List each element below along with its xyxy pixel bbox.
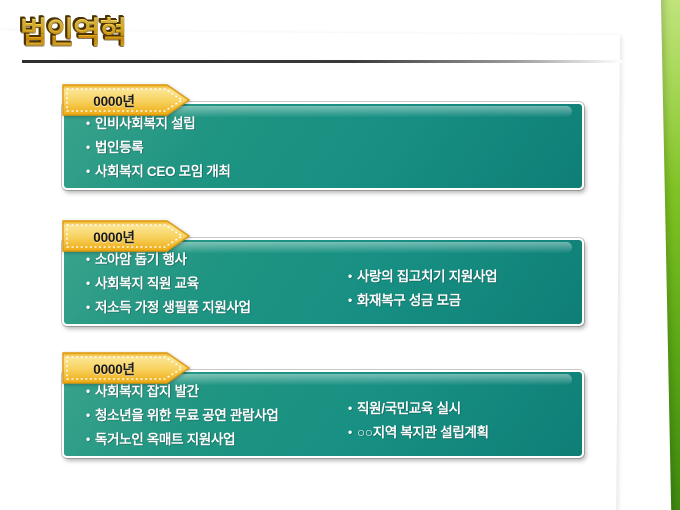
list-item: • 인비사회복지 설립	[86, 113, 348, 134]
list-item-label: 직원/국민교육 실시	[357, 398, 461, 419]
list-item: • 화재복구 성금 모금	[348, 290, 578, 311]
list-item-label: 인비사회복지 설립	[95, 113, 195, 134]
list-item-label: ○○지역 복지관 설립계획	[357, 422, 489, 443]
list-item: • 직원/국민교육 실시	[348, 398, 578, 419]
list-item: • 사랑의 집고치기 지원사업	[348, 266, 578, 287]
list-item-label: 사회복지 직원 교육	[95, 273, 199, 294]
list-item-label: 법인등록	[95, 137, 143, 158]
list-item-label: 화재복구 성금 모금	[357, 290, 461, 311]
list-item: • 소아암 돕기 행사	[86, 249, 348, 270]
section-right-column: • 사랑의 집고치기 지원사업 • 화재복구 성금 모금	[348, 249, 578, 324]
title-divider	[22, 60, 622, 63]
section-left-column: • 소아암 돕기 행사 • 사회복지 직원 교육 • 저소득 가정 생필품 지원…	[86, 249, 348, 324]
bullet-icon: •	[86, 249, 95, 270]
bullet-icon: •	[86, 297, 95, 318]
slide-content: 법인역혁 • 인비사회복지 설립 • 법인등록	[0, 0, 680, 510]
section-left-column: • 인비사회복지 설립 • 법인등록 • 사회복지 CEO 모임 개최	[86, 113, 348, 188]
section-left-column: • 사회복지 잡지 발간 • 청소년을 위한 무료 공연 관람사업 • 독거노인…	[86, 381, 348, 456]
list-item: • 청소년을 위한 무료 공연 관람사업	[86, 405, 348, 426]
list-item-label: 독거노인 옥매트 지원사업	[95, 429, 235, 450]
list-item: • 독거노인 옥매트 지원사업	[86, 429, 348, 450]
bullet-icon: •	[86, 113, 95, 134]
list-item: • 저소득 가정 생필품 지원사업	[86, 297, 348, 318]
bullet-icon: •	[86, 429, 95, 450]
list-item-label: 사랑의 집고치기 지원사업	[357, 266, 497, 287]
list-item: • 사회복지 잡지 발간	[86, 381, 348, 402]
year-tag: 0000년	[62, 220, 190, 252]
year-tag-shape	[62, 352, 190, 384]
section-right-column: • 직원/국민교육 실시 • ○○지역 복지관 설립계획	[348, 381, 578, 456]
section-columns: • 인비사회복지 설립 • 법인등록 • 사회복지 CEO 모임 개최	[64, 104, 582, 188]
section-columns: • 사회복지 잡지 발간 • 청소년을 위한 무료 공연 관람사업 • 독거노인…	[64, 372, 582, 456]
list-item-label: 사회복지 CEO 모임 개최	[95, 161, 231, 182]
bullet-icon: •	[86, 137, 95, 158]
page-title: 법인역혁	[20, 8, 126, 52]
list-item-label: 청소년을 위한 무료 공연 관람사업	[95, 405, 278, 426]
bullet-icon: •	[348, 266, 357, 287]
list-item-label: 저소득 가정 생필품 지원사업	[95, 297, 251, 318]
bullet-icon: •	[86, 273, 95, 294]
bullet-icon: •	[86, 381, 95, 402]
bullet-icon: •	[348, 398, 357, 419]
presentation-slide: 법인역혁 • 인비사회복지 설립 • 법인등록	[0, 0, 680, 510]
list-item: • 사회복지 직원 교육	[86, 273, 348, 294]
bullet-icon: •	[86, 161, 95, 182]
section-right-column	[348, 113, 578, 188]
list-item-label: 사회복지 잡지 발간	[95, 381, 199, 402]
list-item: • 법인등록	[86, 137, 348, 158]
bullet-icon: •	[348, 290, 357, 311]
year-tag: 0000년	[62, 352, 190, 384]
list-item: • 사회복지 CEO 모임 개최	[86, 161, 348, 182]
list-item: • ○○지역 복지관 설립계획	[348, 422, 578, 443]
bullet-icon: •	[348, 422, 357, 443]
section-columns: • 소아암 돕기 행사 • 사회복지 직원 교육 • 저소득 가정 생필품 지원…	[64, 240, 582, 324]
bullet-icon: •	[86, 405, 95, 426]
year-tag: 0000년	[62, 84, 190, 116]
year-tag-shape	[62, 220, 190, 252]
list-item-label: 소아암 돕기 행사	[95, 249, 187, 270]
year-tag-shape	[62, 84, 190, 116]
